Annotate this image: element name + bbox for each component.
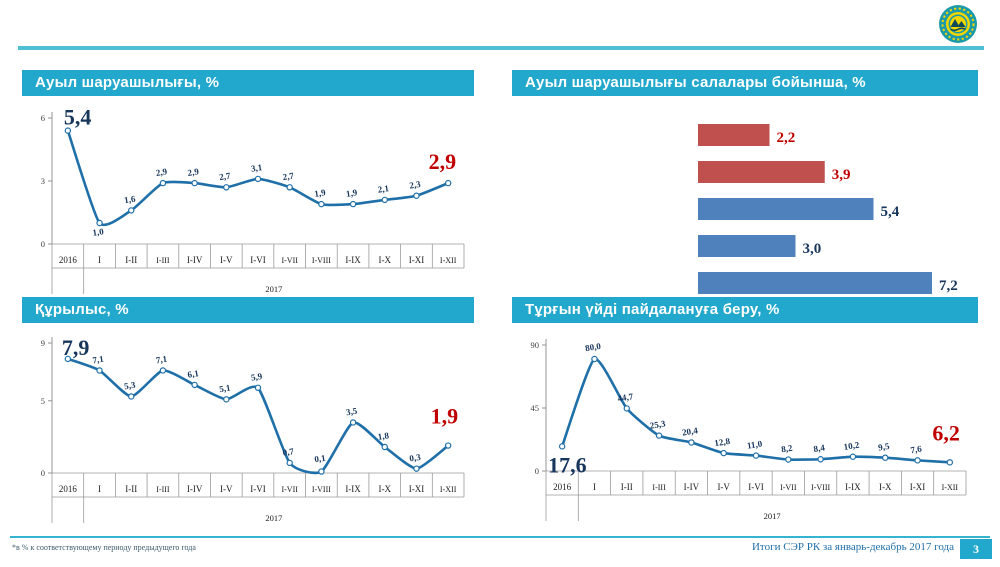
data-point-marker xyxy=(560,444,565,449)
data-label: 1,8 xyxy=(377,430,390,442)
data-label: 1,9 xyxy=(314,187,327,199)
last-value-callout: 1,9 xyxy=(431,404,459,429)
panel-housing: Тұрғын үйді пайдалануға беру, % 04590201… xyxy=(512,297,978,543)
x-axis-category-label: I-VI xyxy=(250,255,266,265)
bar-value-label: 3,9 xyxy=(832,167,851,183)
panel-agri-branches: Ауыл шаруашылығы салалары бойынша, % 2,2… xyxy=(512,70,978,311)
x-axis-category-label: 2016 xyxy=(59,484,78,494)
panel-title-construction: Құрылыс, % xyxy=(22,297,474,323)
data-label: 8,4 xyxy=(813,442,826,454)
data-point-marker xyxy=(319,469,324,474)
data-label: 2,7 xyxy=(219,170,232,182)
data-label: 0,1 xyxy=(314,453,327,465)
footer-divider xyxy=(10,536,990,538)
x-axis-category-label: I-VIII xyxy=(312,256,331,265)
data-point-marker xyxy=(915,458,920,463)
data-point-marker xyxy=(414,466,419,471)
header-divider xyxy=(18,46,984,50)
x-axis-group-label: 2017 xyxy=(265,284,282,294)
data-label: 2,7 xyxy=(282,170,295,182)
x-axis-category-label: I-VII xyxy=(780,483,797,492)
x-axis-group-label: 2017 xyxy=(764,511,781,521)
x-axis-category-label: I-X xyxy=(379,255,392,265)
x-axis-category-label: I-III xyxy=(652,483,666,492)
data-point-marker xyxy=(255,385,260,390)
emblem-logo xyxy=(938,4,978,44)
chart-housing: 045902016II-III-IIII-IVI-VI-VII-VIII-VII… xyxy=(512,323,978,543)
data-point-marker xyxy=(883,455,888,460)
data-label: 7,1 xyxy=(92,354,105,366)
data-point-marker xyxy=(818,457,823,462)
data-label: 25,3 xyxy=(649,418,667,430)
bar-value-label: 3,0 xyxy=(803,241,822,257)
x-axis-category-label: I-II xyxy=(125,255,137,265)
data-point-marker xyxy=(160,181,165,186)
panel-title-agri-branches: Ауыл шаруашылығы салалары бойынша, % xyxy=(512,70,978,96)
x-axis-category-label: I-III xyxy=(156,256,170,265)
data-label: 8,2 xyxy=(781,443,794,455)
data-label: 80,0 xyxy=(584,341,602,353)
page-number: 3 xyxy=(960,539,992,559)
y-axis-tick-label: 5 xyxy=(41,396,45,406)
x-axis-category-label: I xyxy=(98,255,101,265)
bar xyxy=(698,235,796,257)
x-axis-category-label: I-II xyxy=(621,482,633,492)
panel-title-agriculture: Ауыл шаруашылығы, % xyxy=(22,70,474,96)
footer-report-title: Итоги СЭР РК за январь-декабрь 2017 года xyxy=(752,541,954,553)
x-axis-category-label: I-V xyxy=(220,484,233,494)
x-axis-category-label: I-XII xyxy=(440,485,457,494)
data-point-marker xyxy=(129,394,134,399)
y-axis-tick-label: 0 xyxy=(41,239,45,249)
x-axis-category-label: I-XI xyxy=(910,482,926,492)
chart-construction: 0592016II-III-IIII-IVI-VI-VII-VIII-VIIII… xyxy=(22,323,474,543)
data-point-marker xyxy=(786,457,791,462)
data-label: 1,6 xyxy=(123,194,136,206)
data-point-marker xyxy=(287,460,292,465)
x-axis-category-label: I-IV xyxy=(187,255,203,265)
panel-title-housing: Тұрғын үйді пайдалануға беру, % xyxy=(512,297,978,323)
agriculture-line-svg: 0362016II-III-IIII-IVI-VI-VII-VIII-VIIII… xyxy=(22,96,474,316)
data-point-marker xyxy=(850,454,855,459)
data-point-marker xyxy=(689,440,694,445)
bar-value-label: 7,2 xyxy=(939,278,958,294)
data-point-marker xyxy=(382,444,387,449)
data-label: 10,2 xyxy=(843,440,861,452)
first-value-callout: 17,6 xyxy=(548,452,587,477)
data-label: 0,7 xyxy=(282,446,295,458)
y-axis-tick-label: 0 xyxy=(41,468,45,478)
data-point-marker xyxy=(97,220,102,225)
slide-header xyxy=(0,0,1000,50)
x-axis-category-label: I-XII xyxy=(440,256,457,265)
data-point-marker xyxy=(947,460,952,465)
y-axis-tick-label: 90 xyxy=(531,340,540,350)
slide-root: Ауыл шаруашылығы, % 0362016II-III-IIII-I… xyxy=(0,0,1000,567)
data-point-marker xyxy=(446,443,451,448)
x-axis-category-label: 2016 xyxy=(553,482,572,492)
data-label: 3,1 xyxy=(250,162,263,174)
chart-agriculture: 0362016II-III-IIII-IVI-VI-VII-VIII-VIIII… xyxy=(22,96,474,321)
data-label: 7,1 xyxy=(155,354,168,366)
data-point-marker xyxy=(382,197,387,202)
data-point-marker xyxy=(160,368,165,373)
footnote: *в % к соответствующему периоду предыдущ… xyxy=(12,543,196,552)
x-axis-category-label: I-XII xyxy=(942,483,959,492)
x-axis-category-label: I xyxy=(593,482,596,492)
data-point-marker xyxy=(192,382,197,387)
x-axis-category-label: I-IX xyxy=(845,482,861,492)
bar-value-label: 5,4 xyxy=(881,204,900,220)
data-label: 11,0 xyxy=(746,438,763,450)
x-axis-category-label: I-VI xyxy=(250,484,266,494)
housing-line-svg: 045902016II-III-IIII-IVI-VI-VII-VIII-VII… xyxy=(512,323,978,538)
x-axis-category-label: I-VIII xyxy=(811,483,830,492)
x-axis-category-label: I-IV xyxy=(684,482,700,492)
x-axis-category-label: 2016 xyxy=(59,255,78,265)
data-point-marker xyxy=(656,433,661,438)
data-label: 1,0 xyxy=(92,226,105,238)
x-axis-category-label: I-VIII xyxy=(312,485,331,494)
x-axis-category-label: I-VI xyxy=(748,482,764,492)
x-axis-category-label: I-V xyxy=(220,255,233,265)
data-point-marker xyxy=(255,176,260,181)
data-label: 12,8 xyxy=(714,436,732,448)
y-axis-tick-label: 3 xyxy=(41,176,45,186)
data-point-marker xyxy=(592,356,597,361)
data-point-marker xyxy=(721,450,726,455)
data-label: 0,3 xyxy=(409,452,422,464)
x-axis-category-label: I xyxy=(98,484,101,494)
data-point-marker xyxy=(319,202,324,207)
data-label: 9,5 xyxy=(877,441,890,453)
x-axis-category-label: I-X xyxy=(379,484,392,494)
data-label: 3,5 xyxy=(345,406,358,418)
data-point-marker xyxy=(224,185,229,190)
panel-construction: Құрылыс, % 0592016II-III-IIII-IVI-VI-VII… xyxy=(22,297,474,543)
data-point-marker xyxy=(753,453,758,458)
data-label: 2,9 xyxy=(155,166,168,178)
last-value-callout: 2,9 xyxy=(429,149,457,174)
data-label: 6,1 xyxy=(187,368,200,380)
construction-line-svg: 0592016II-III-IIII-IVI-VI-VII-VIII-VIIII… xyxy=(22,323,474,538)
x-axis-category-label: I-III xyxy=(156,485,170,494)
data-label: 5,3 xyxy=(123,380,136,392)
panel-agriculture: Ауыл шаруашылығы, % 0362016II-III-IIII-I… xyxy=(22,70,474,321)
x-axis-category-label: I-IV xyxy=(187,484,203,494)
x-axis-category-label: I-IX xyxy=(345,484,361,494)
data-point-marker xyxy=(224,397,229,402)
x-axis-category-label: I-VII xyxy=(281,256,298,265)
data-label: 2,3 xyxy=(409,179,422,191)
data-label: 20,4 xyxy=(681,425,699,437)
data-point-marker xyxy=(350,420,355,425)
bar xyxy=(698,161,825,183)
data-label: 1,9 xyxy=(345,187,358,199)
bar xyxy=(698,272,932,294)
y-axis-tick-label: 45 xyxy=(531,403,540,413)
bar xyxy=(698,198,874,220)
data-label: 44,7 xyxy=(617,391,635,403)
x-axis-category-label: I-XI xyxy=(409,484,425,494)
x-axis-category-label: I-IX xyxy=(345,255,361,265)
y-axis-tick-label: 0 xyxy=(535,466,539,476)
first-value-callout: 7,9 xyxy=(62,335,90,360)
data-label: 5,9 xyxy=(250,371,263,383)
agri-branches-bar-svg: 2,23,95,43,07,2 xyxy=(512,96,978,306)
data-point-marker xyxy=(287,185,292,190)
x-axis-category-label: I-XI xyxy=(409,255,425,265)
data-point-marker xyxy=(192,181,197,186)
data-point-marker xyxy=(624,406,629,411)
chart-agri-branches: 2,23,95,43,07,2 xyxy=(512,96,978,311)
data-label: 5,1 xyxy=(219,382,232,394)
last-value-callout: 6,2 xyxy=(932,420,960,445)
bar xyxy=(698,124,770,146)
data-label: 2,1 xyxy=(377,183,390,195)
x-axis-category-label: I-V xyxy=(717,482,730,492)
y-axis-tick-label: 6 xyxy=(41,113,45,123)
data-label: 2,9 xyxy=(187,166,200,178)
data-point-marker xyxy=(446,181,451,186)
x-axis-category-label: I-VII xyxy=(281,485,298,494)
x-axis-group-label: 2017 xyxy=(265,513,282,523)
data-label: 7,6 xyxy=(910,444,923,456)
first-value-callout: 5,4 xyxy=(64,105,92,130)
data-point-marker xyxy=(129,208,134,213)
data-point-marker xyxy=(414,193,419,198)
x-axis-category-label: I-X xyxy=(879,482,892,492)
x-axis-category-label: I-II xyxy=(125,484,137,494)
bar-value-label: 2,2 xyxy=(777,130,796,146)
y-axis-tick-label: 9 xyxy=(41,338,45,348)
data-point-marker xyxy=(350,202,355,207)
data-point-marker xyxy=(97,368,102,373)
